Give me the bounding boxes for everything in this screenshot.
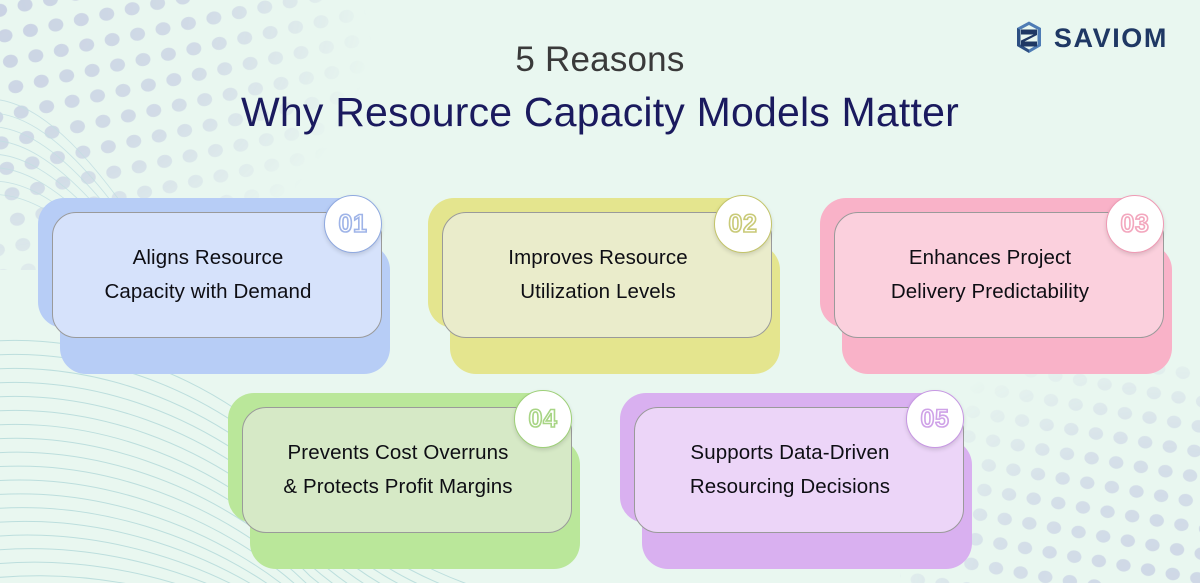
reason-card-04[interactable]: Prevents Cost Overruns& Protects Profit …	[228, 393, 598, 573]
eyebrow-text: 5 Reasons	[0, 40, 1200, 79]
card-label-line-1: Supports Data-Driven	[690, 436, 890, 470]
card-label-line-1: Enhances Project	[891, 241, 1089, 275]
reason-card-02[interactable]: Improves ResourceUtilization Levels02	[428, 198, 798, 378]
title-block: 5 Reasons Why Resource Capacity Models M…	[0, 40, 1200, 139]
card-number-badge: 02	[714, 195, 772, 253]
card-label-line-1: Aligns Resource	[104, 241, 311, 275]
card-number-badge: 04	[514, 390, 572, 448]
card-label-line-1: Prevents Cost Overruns	[283, 436, 512, 470]
page-title: Why Resource Capacity Models Matter	[0, 86, 1200, 139]
card-number-text: 03	[1120, 212, 1149, 237]
infographic-header: SAVIOM 5 Reasons Why Resource Capacity M…	[0, 0, 1200, 165]
card-label-line-1: Improves Resource	[508, 241, 687, 275]
card-label: Improves ResourceUtilization Levels	[508, 241, 687, 309]
card-label-line-2: Delivery Predictability	[891, 275, 1089, 309]
card-label: Enhances ProjectDelivery Predictability	[891, 241, 1089, 309]
reason-card-01[interactable]: Aligns ResourceCapacity with Demand01	[38, 198, 408, 378]
card-number-badge: 01	[324, 195, 382, 253]
card-label-line-2: Capacity with Demand	[104, 275, 311, 309]
card-number-text: 02	[728, 212, 757, 237]
card-number-badge: 03	[1106, 195, 1164, 253]
card-label-line-2: & Protects Profit Margins	[283, 470, 512, 504]
card-number-badge: 05	[906, 390, 964, 448]
card-number-text: 01	[338, 212, 367, 237]
card-label-line-2: Utilization Levels	[508, 275, 687, 309]
card-number-text: 04	[528, 407, 557, 432]
reason-card-03[interactable]: Enhances ProjectDelivery Predictability0…	[820, 198, 1190, 378]
card-label: Prevents Cost Overruns& Protects Profit …	[283, 436, 512, 504]
card-label-line-2: Resourcing Decisions	[690, 470, 890, 504]
reason-card-05[interactable]: Supports Data-DrivenResourcing Decisions…	[620, 393, 990, 573]
card-label: Aligns ResourceCapacity with Demand	[104, 241, 311, 309]
card-number-text: 05	[920, 407, 949, 432]
infographic-canvas: SAVIOM 5 Reasons Why Resource Capacity M…	[0, 0, 1200, 583]
card-label: Supports Data-DrivenResourcing Decisions	[690, 436, 890, 504]
